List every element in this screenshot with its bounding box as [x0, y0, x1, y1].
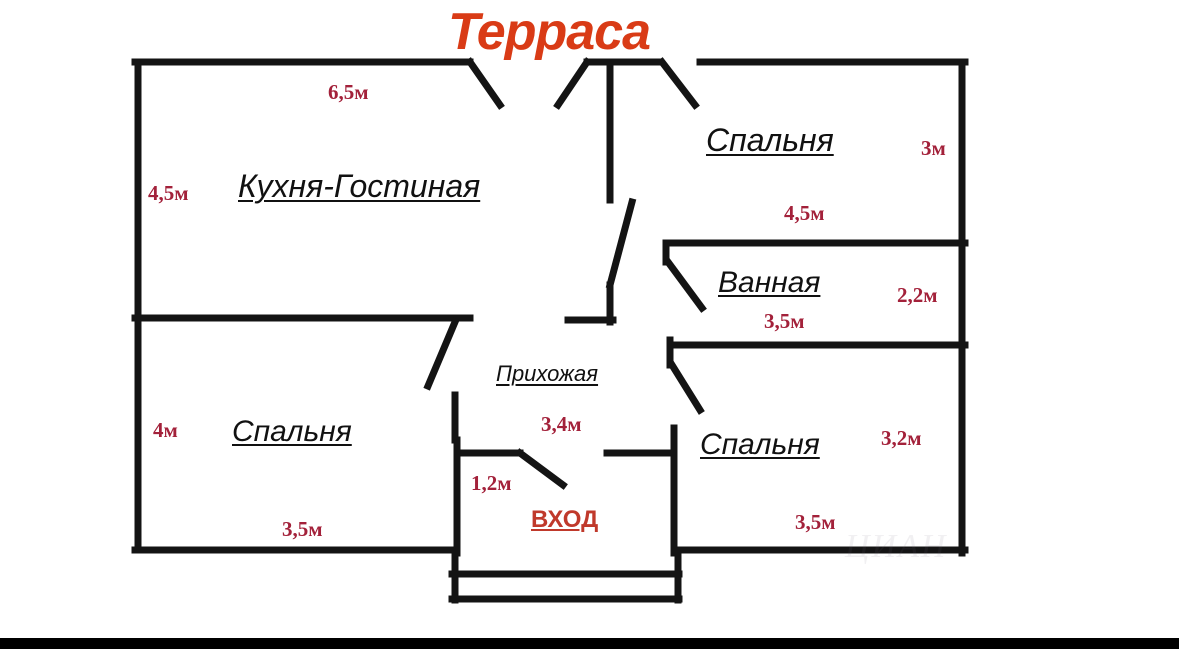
door-swing-kitchen-hallway	[610, 202, 632, 285]
room-label-bedroom-bottom-right: Спальня	[700, 430, 820, 460]
dimension-bathroom-width: 3,5м	[764, 311, 805, 332]
dimension-bedroom-bottom-right-width: 3,5м	[795, 512, 836, 533]
room-label-kitchen-living: Кухня-Гостиная	[238, 170, 480, 202]
dimension-bedroom-top-right-width: 4,5м	[784, 203, 825, 224]
bottom-black-bar	[0, 638, 1179, 649]
room-label-bathroom: Ванная	[718, 268, 820, 298]
door-swing-bedroom-left-hallway	[428, 322, 455, 386]
terrace-title: Терраса	[448, 6, 650, 58]
dimension-kitchen-living-height: 4,5м	[148, 183, 189, 204]
dimension-hallway-height: 1,2м	[471, 473, 512, 494]
dimension-kitchen-living-width: 6,5м	[328, 82, 369, 103]
door-swing-terrace-left	[470, 62, 500, 105]
dimension-bedroom-top-right-height: 3м	[921, 138, 946, 159]
door-swing-bathroom	[668, 262, 702, 308]
room-label-bedroom-top-right: Спальня	[706, 124, 834, 156]
room-label-bedroom-bottom-left: Спальня	[232, 417, 352, 447]
dimension-bedroom-bottom-right-height: 3,2м	[881, 428, 922, 449]
room-label-hallway: Прихожая	[496, 363, 598, 385]
floor-plan-image: Терраса Кухня-Гостиная 6,5м 4,5м Спальня…	[0, 0, 1179, 649]
door-swing-terrace-right	[662, 62, 695, 105]
dimension-bedroom-bottom-left-width: 3,5м	[282, 519, 323, 540]
dimension-bathroom-height: 2,2м	[897, 285, 938, 306]
entrance-label: ВХОД	[531, 508, 598, 532]
door-swing-entrance-inner	[520, 453, 563, 485]
floor-plan-drawing	[0, 0, 1179, 649]
door-swing-bedroom-right-hallway	[672, 365, 700, 410]
door-swing-terrace-center	[558, 62, 587, 105]
dimension-bedroom-bottom-left-height: 4м	[153, 420, 178, 441]
dimension-hallway-width: 3,4м	[541, 414, 582, 435]
